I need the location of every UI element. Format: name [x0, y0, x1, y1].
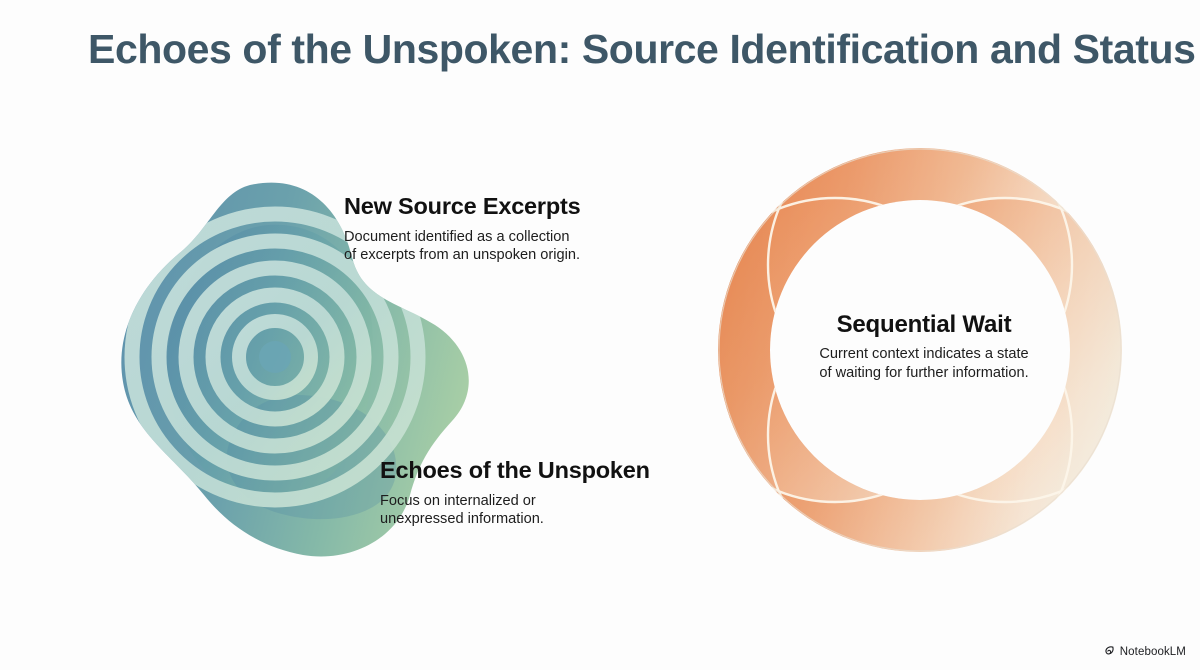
- callout-heading: New Source Excerpts: [344, 194, 581, 220]
- page-title: Echoes of the Unspoken: Source Identific…: [88, 26, 1118, 73]
- callout-body: Current context indicates a state of wai…: [812, 345, 1036, 381]
- callout-sequential-wait: Sequential Wait Current context indicate…: [812, 312, 1036, 382]
- notebooklm-spiral-icon: [1102, 645, 1115, 658]
- notebooklm-label: NotebookLM: [1120, 646, 1186, 658]
- callout-body: Focus on internalized or unexpressed inf…: [380, 492, 650, 528]
- callout-new-source-excerpts: New Source Excerpts Document identified …: [344, 194, 581, 264]
- callout-heading: Sequential Wait: [812, 312, 1036, 338]
- callout-echoes-of-the-unspoken: Echoes of the Unspoken Focus on internal…: [380, 458, 650, 528]
- callout-heading: Echoes of the Unspoken: [380, 458, 650, 484]
- callout-body: Document identified as a collection of e…: [344, 228, 581, 264]
- slide-canvas: Echoes of the Unspoken: Source Identific…: [0, 0, 1200, 670]
- notebooklm-watermark: NotebookLM: [1102, 645, 1186, 658]
